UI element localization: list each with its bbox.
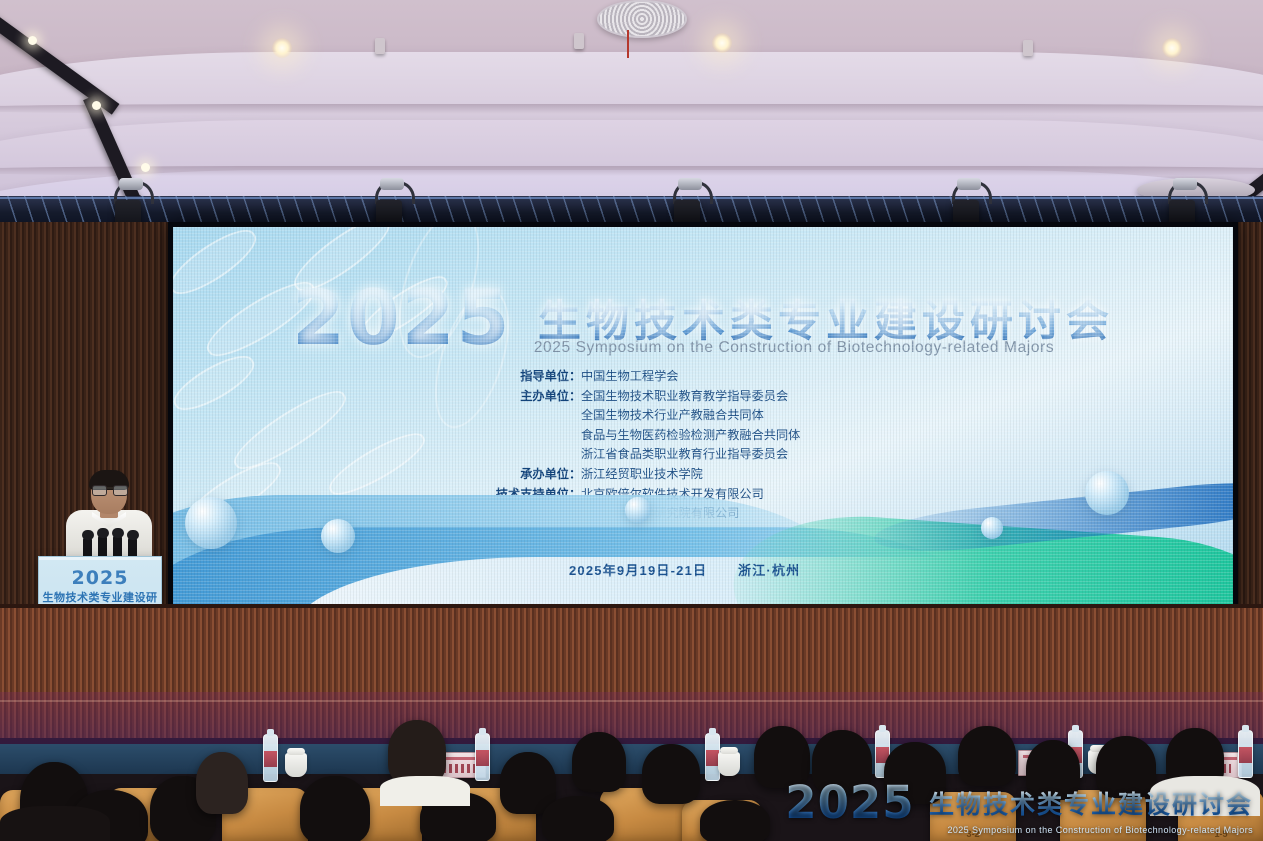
decorative-sphere: [1085, 471, 1129, 515]
event-location: 浙江·杭州: [738, 563, 800, 578]
stage-light-head: [957, 178, 981, 190]
watermark-title-chinese: 生物技术类专业建设研讨会: [929, 785, 1253, 821]
track-spotlight: [141, 163, 150, 172]
event-date: 2025年9月19日-21日: [569, 563, 707, 578]
led-screen-bezel: 2025 生物技术类专业建设研讨会 2025 Symposium on the …: [168, 222, 1238, 614]
screen-date-line: 2025年9月19日-21日 浙江·杭州: [569, 560, 800, 579]
tea-cup: [285, 753, 307, 777]
decorative-sphere: [625, 497, 651, 523]
audience-shoulders: [380, 776, 470, 806]
chromosome-graphic: [323, 424, 432, 504]
audience-member: [196, 752, 248, 814]
organizer-value: 食品与生物医药检验检测产教融合共同体: [581, 426, 800, 446]
organizer-label: 指导单位: [473, 367, 569, 387]
audience-member: [388, 720, 446, 784]
track-spotlight: [28, 36, 37, 45]
stage-floor-line: [0, 700, 1263, 702]
sprinkler-rod: [627, 30, 629, 58]
audience-member: [300, 776, 370, 841]
ceiling-downlight: [1162, 38, 1182, 58]
led-screen-content: 2025 生物技术类专业建设研讨会 2025 Symposium on the …: [173, 227, 1233, 609]
ceiling-seam-1: [0, 104, 1263, 114]
chromosome-graphic: [226, 380, 354, 479]
water-bottle: [475, 733, 490, 781]
corner-watermark: 2025 生物技术类专业建设研讨会 2025 Symposium on the …: [785, 776, 1253, 835]
track-spotlight: [92, 101, 101, 110]
audience-shoulders: [0, 806, 110, 841]
podium-year: 2025: [39, 567, 161, 589]
audience-member: [572, 732, 626, 792]
decorative-sphere: [185, 497, 237, 549]
stage-light-head: [380, 178, 404, 190]
podium-top-edge: [39, 556, 161, 560]
organizer-value: 中国生物工程学会: [581, 367, 800, 387]
organizer-colon: ：: [569, 367, 581, 387]
audience-member: [542, 796, 614, 841]
stage-light-head: [678, 178, 702, 190]
stage-light-head: [1173, 178, 1197, 190]
ceiling-sensor-mid: [574, 33, 584, 49]
conference-hall-photo: 2025 生物技术类专业建设研讨会 2025 Symposium on the …: [0, 0, 1263, 841]
audience-member: [642, 744, 700, 804]
organizer-row: 承办单位 ： 浙江经贸职业技术学院: [473, 465, 800, 485]
air-diffuser: [597, 0, 687, 38]
decorative-sphere: [981, 517, 1003, 539]
organizer-colon: ：: [569, 465, 581, 485]
screen-title-english: 2025 Symposium on the Construction of Bi…: [534, 339, 1054, 357]
ceiling-seam-2: [0, 166, 1263, 176]
organizer-row: 主办单位 ： 全国生物技术职业教育教学指导委员会 全国生物技术行业产教融合共同体…: [473, 387, 800, 465]
ceiling-downlight: [272, 38, 292, 58]
speaker-at-podium: [60, 470, 158, 562]
eyeglass-lens-right: [113, 485, 128, 496]
water-bottle: [263, 734, 278, 782]
ceiling-sensor-left: [375, 38, 385, 54]
audience-member: [700, 800, 770, 841]
ceiling-downlight: [712, 33, 732, 53]
organizer-label: 主办单位: [473, 387, 569, 407]
organizer-value: 全国生物技术职业教育教学指导委员会: [581, 387, 800, 407]
water-bottle: [1238, 730, 1253, 778]
organizer-value: 全国生物技术行业产教融合共同体: [581, 406, 800, 426]
screen-subtitle-wrap: 2025 Symposium on the Construction of Bi…: [173, 339, 1233, 357]
watermark-year: 2025: [785, 776, 914, 829]
stage-light-head: [119, 178, 143, 190]
eyeglass-lens-left: [92, 485, 107, 496]
organizer-value: 浙江省食品类职业教育行业指导委员会: [581, 445, 800, 465]
organizer-label: 承办单位: [473, 465, 569, 485]
ceiling-sensor-right: [1023, 40, 1033, 56]
organizer-value: 浙江经贸职业技术学院: [581, 465, 800, 485]
organizer-colon: ：: [569, 387, 581, 407]
tea-cup: [718, 752, 740, 776]
decorative-sphere: [321, 519, 355, 553]
organizer-row: 指导单位 ： 中国生物工程学会: [473, 367, 800, 387]
